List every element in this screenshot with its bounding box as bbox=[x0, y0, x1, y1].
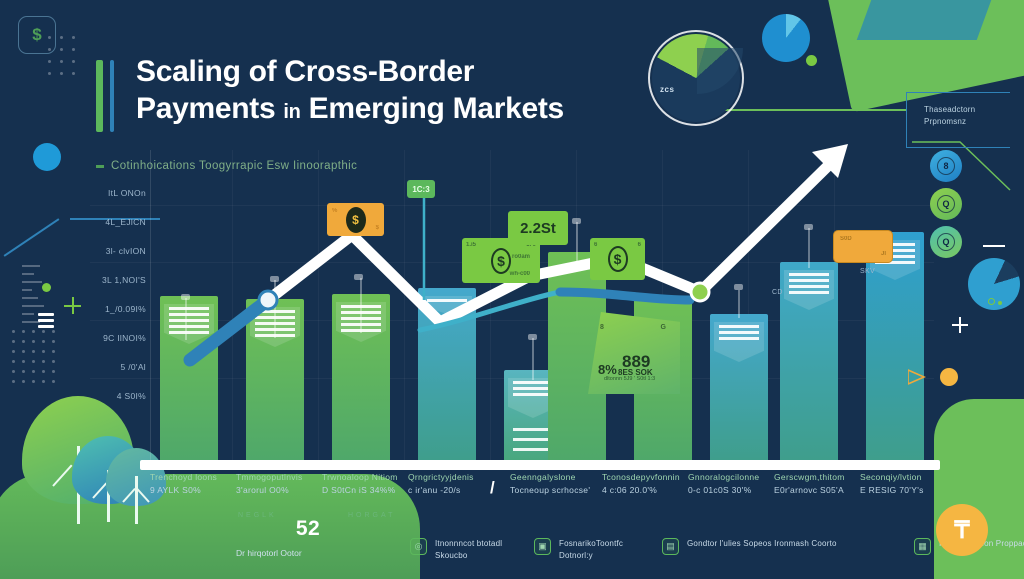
x-label-sub: 9 AYLK S0% bbox=[150, 485, 250, 495]
legend-item-2-text: Gondtor l'ulies Sopeos Ironmash Coorto bbox=[687, 538, 837, 550]
globe-icon-glyph: 8 bbox=[937, 157, 956, 176]
bar-stem-cap bbox=[734, 284, 743, 290]
bar-doc-icon bbox=[784, 270, 834, 310]
stat-dots-left: NEGLK bbox=[238, 512, 277, 519]
bar-stem bbox=[185, 298, 187, 340]
panel-corner-mark: G bbox=[661, 324, 666, 331]
bar-stem bbox=[360, 278, 362, 333]
logo-badge[interactable]: $ bbox=[18, 16, 56, 54]
title-accent-bars bbox=[96, 60, 114, 132]
decor-arrow-line bbox=[983, 245, 1005, 247]
x-label-2: Trwnoaloop Nitiom D S0tCn iS 34%% bbox=[322, 472, 422, 495]
banknote-gold: $ % $ bbox=[327, 203, 384, 236]
bar-doc-icon bbox=[164, 304, 214, 344]
note-corner-mark: % bbox=[332, 208, 337, 214]
pie-chart-small-top[interactable] bbox=[762, 14, 810, 62]
page-title-in: in bbox=[283, 101, 300, 123]
bar-stem-cap bbox=[354, 274, 363, 280]
bar-stem bbox=[274, 280, 276, 338]
search-icon[interactable]: Q bbox=[930, 226, 962, 258]
secure-doc-icon: ▦ bbox=[914, 538, 931, 555]
x-label-8: Seconqiy/lvtion E RESIG 70'Y's bbox=[860, 472, 960, 495]
bar-3[interactable] bbox=[418, 288, 476, 460]
x-label-title: Trenchoyd loons bbox=[150, 472, 250, 482]
location-icon[interactable]: Q bbox=[930, 188, 962, 220]
x-label-6: Gnnoralogcilonne 0-c 01c0S 30'% bbox=[688, 472, 788, 495]
panel-corner-mark: 8 bbox=[600, 324, 604, 331]
decor-circle-blue bbox=[33, 143, 61, 171]
banknote-green-2: $ 6 6 bbox=[590, 238, 645, 280]
x-label-sub: 0-c 01c0S 30'% bbox=[688, 485, 788, 495]
x-label-sub: 4 c:06 20.0'% bbox=[602, 485, 702, 495]
menu-icon-lines bbox=[38, 313, 54, 328]
pie-main-label: zcs bbox=[660, 85, 674, 94]
bar-extra-line bbox=[513, 428, 553, 431]
note-sub-text: ro0am bbox=[512, 254, 530, 260]
x-label-sub: E RESIG 70'Y's bbox=[860, 485, 960, 495]
note-corner-mark: 1.i5 bbox=[466, 242, 476, 248]
subtitle-text: Cotinhoications Toogyrrapic Esw Iinoorap… bbox=[111, 160, 357, 172]
bar-7[interactable] bbox=[710, 314, 768, 460]
pin-icon: ◎ bbox=[410, 538, 427, 555]
page-title-line1: Scaling of Cross-Border bbox=[136, 54, 616, 91]
right-callout-line1: Thaseadctorn bbox=[924, 104, 975, 116]
legend: ◎ Itnonnncot btotadl Skoucbo ▣ Fosnariko… bbox=[228, 532, 968, 570]
x-label-0: Trenchoyd loons 9 AYLK S0% bbox=[150, 472, 250, 495]
y-tick-label: 3l- clvION bbox=[88, 246, 146, 275]
y-tick-label: 4 S0I% bbox=[88, 391, 146, 420]
banknote-green-value: 2.2St bbox=[508, 211, 568, 245]
legend-item-0-line1: Itnonnncot btotadl bbox=[435, 539, 502, 548]
x-label-sub: D S0tCn iS 34%% bbox=[322, 485, 422, 495]
note-corner-mark: 6 bbox=[594, 242, 597, 248]
x-label-title: Tconosdepyvfonnin bbox=[602, 472, 702, 482]
legend-item-0-text: Itnonnncot btotadl Skoucbo bbox=[435, 538, 502, 561]
corner-shape-blue-top-right bbox=[857, 0, 992, 40]
y-tick-label: 1_/0.09I% bbox=[88, 304, 146, 333]
bar-stem-cap bbox=[804, 224, 813, 230]
legend-item-0-line2: Skoucbo bbox=[435, 551, 468, 560]
bar-stem-cap bbox=[270, 276, 279, 282]
bar-0[interactable] bbox=[160, 296, 218, 460]
dollar-icon: $ bbox=[608, 246, 628, 272]
stat-dots-right: HORGAT bbox=[348, 512, 395, 519]
bar-stem bbox=[576, 222, 578, 264]
coin-glyph: ₸ bbox=[954, 516, 969, 545]
y-axis-labels: ItL ONOn 4L_EJlCN 3l- clvION 3L 1,NOI'S … bbox=[88, 188, 146, 420]
decor-arrow-orange bbox=[908, 366, 936, 388]
decor-connector bbox=[4, 218, 60, 256]
callout-panel-green: 8 G 889 8% 8ES SOK dltonnn 5J9 ' S0tl 1:… bbox=[588, 312, 680, 394]
bar-8[interactable] bbox=[780, 262, 838, 460]
dollar-icon: $ bbox=[32, 25, 41, 45]
decor-dot-green bbox=[998, 301, 1002, 305]
bar-doc-icon bbox=[422, 296, 472, 314]
bar-extra-line bbox=[513, 448, 553, 451]
page-title-line2: Payments in Emerging Markets bbox=[136, 91, 616, 128]
decor-dot-green bbox=[806, 55, 817, 66]
note-value: 2.2St bbox=[520, 220, 556, 237]
chart-baseline bbox=[140, 460, 940, 470]
title-block: Scaling of Cross-Border Payments in Emer… bbox=[96, 54, 616, 127]
bar-9[interactable] bbox=[866, 232, 924, 460]
x-label-title: Gnnoralogcilonne bbox=[688, 472, 788, 482]
globe-icon[interactable]: 8 bbox=[930, 150, 962, 182]
x-label-sub: Tocneoup scrhocse' bbox=[510, 485, 610, 495]
bar-stem-cap bbox=[572, 218, 581, 224]
card-corner-mark: JI bbox=[881, 251, 886, 257]
legend-item-1-text: FosnarikoToontfc Dotnorl:y bbox=[559, 538, 623, 561]
bar-stem-cap bbox=[181, 294, 190, 300]
note-corner-mark: $ bbox=[376, 225, 379, 231]
legend-item-2-line1: Gondtor l'ulies Sopeos Ironmash Coorto bbox=[687, 539, 837, 548]
bar-stem-cap bbox=[528, 334, 537, 340]
legend-item-1-line1: FosnarikoToontfc bbox=[559, 539, 623, 548]
dollar-icon: $ bbox=[491, 248, 511, 274]
y-tick-label: 5 /0'Al bbox=[88, 362, 146, 391]
white-trend-arrow-head bbox=[812, 144, 848, 178]
panel-percent: 8% bbox=[598, 362, 617, 377]
x-label-title: Seconqiy/lvtion bbox=[860, 472, 960, 482]
location-icon-glyph: Q bbox=[937, 195, 956, 214]
y-tick-label: 4L_EJlCN bbox=[88, 217, 146, 246]
subtitle-dash-icon bbox=[96, 165, 104, 168]
decor-ring-small bbox=[988, 298, 995, 305]
page-title-payments: Payments bbox=[136, 92, 275, 125]
bar-stem bbox=[738, 290, 740, 318]
x-label-4: Geenngalyslone Tocneoup scrhocse' bbox=[510, 472, 610, 495]
subtitle: Cotinhoications Toogyrrapic Esw Iinoorap… bbox=[96, 160, 357, 172]
y-tick-label: 9C IlNOI% bbox=[88, 333, 146, 362]
x-label-separator: / bbox=[490, 478, 495, 498]
right-callout-line2: Prpnomsnz bbox=[924, 116, 975, 128]
badge-top: 1C:3 bbox=[407, 180, 435, 198]
search-icon-glyph: Q bbox=[937, 233, 956, 252]
bar-extra-line bbox=[513, 438, 553, 441]
x-label-5: Tconosdepyvfonnin 4 c:06 20.0'% bbox=[602, 472, 702, 495]
decor-dot-orange bbox=[940, 368, 958, 386]
panel-foot: dltonnn 5J9 ' S0tl 1:3 bbox=[604, 376, 655, 382]
infographic-canvas: $ Scaling of Cross-Border Payments in Em… bbox=[0, 0, 1024, 579]
decor-plus-icon bbox=[952, 317, 968, 333]
x-label-title: Gerscwgm,thitom bbox=[774, 472, 874, 482]
bar8-tiny-label: CD bbox=[772, 289, 783, 296]
x-label-sub: 3'arorul O0% bbox=[236, 485, 336, 495]
x-axis-labels: Trenchoyd loons 9 AYLK S0% Tmmogoputlnvi… bbox=[150, 472, 940, 512]
x-label-7: Gerscwgm,thitom E0r'arnovc S05'A bbox=[774, 472, 874, 495]
check-doc-icon: ▣ bbox=[534, 538, 551, 555]
report-icon: ▤ bbox=[662, 538, 679, 555]
note-sub-text: wh-c00 bbox=[510, 271, 530, 277]
legend-item-1-line2: Dotnorl:y bbox=[559, 551, 593, 560]
decor-dot-grid bbox=[12, 330, 55, 383]
bar-stem bbox=[532, 338, 534, 380]
bar-stem bbox=[808, 228, 810, 268]
decor-dot-green bbox=[42, 283, 51, 292]
y-tick-label: ItL ONOn bbox=[88, 188, 146, 217]
y-tick-label: 3L 1,NOI'S bbox=[88, 275, 146, 304]
dollar-icon: $ bbox=[346, 207, 366, 233]
right-callout-label: Thaseadctorn Prpnomsnz bbox=[924, 104, 975, 128]
bar9-tiny-label: SKV bbox=[860, 268, 875, 275]
bar-doc-icon bbox=[714, 322, 764, 362]
card-gold: S0D JI bbox=[833, 230, 893, 263]
decor-plus-icon bbox=[64, 297, 81, 314]
x-label-title: Trwnoaloop Nitiom bbox=[322, 472, 422, 482]
card-label: S0D bbox=[840, 236, 852, 242]
legend-item-2[interactable]: ▤ Gondtor l'ulies Sopeos Ironmash Coorto bbox=[662, 538, 912, 555]
x-label-1: Tmmogoputlnvis 3'arorul O0% bbox=[236, 472, 336, 495]
x-label-title: Geenngalyslone bbox=[510, 472, 610, 482]
page-title-markets: Emerging Markets bbox=[309, 92, 564, 125]
note-corner-mark: 6 bbox=[638, 242, 641, 248]
x-label-sub: E0r'arnovc S05'A bbox=[774, 485, 874, 495]
currency-coin-icon[interactable]: ₸ bbox=[936, 504, 988, 556]
x-label-title: Tmmogoputlnvis bbox=[236, 472, 336, 482]
